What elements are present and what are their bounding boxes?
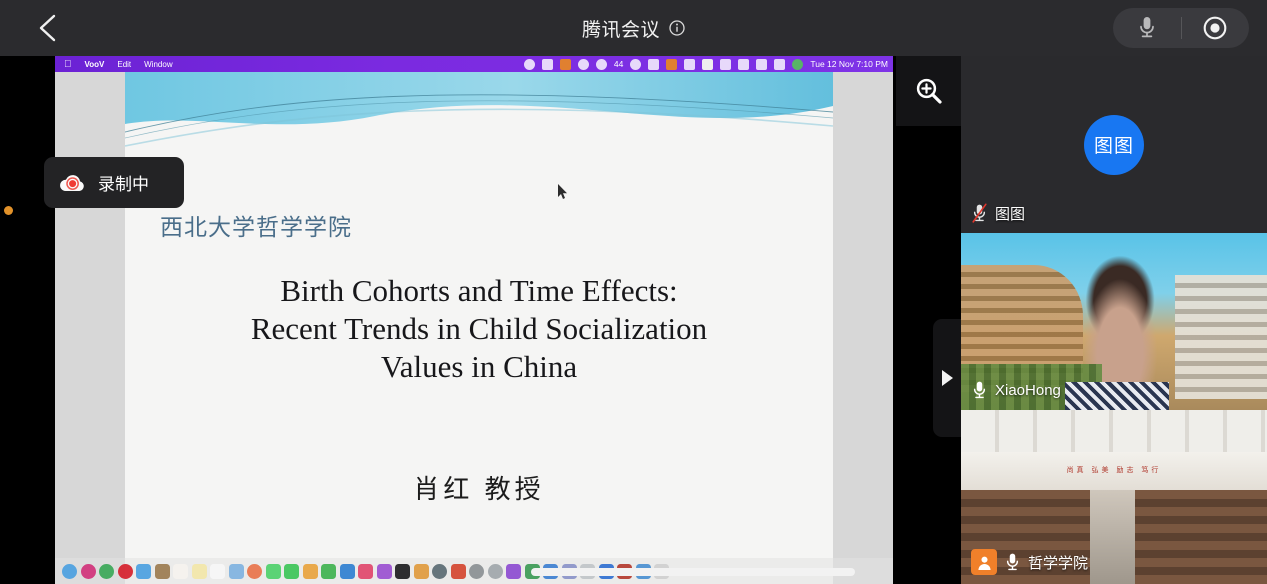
dropbox-icon[interactable] — [524, 59, 535, 70]
chrome-icon[interactable] — [99, 564, 114, 579]
menu-item-window[interactable]: Window — [144, 60, 172, 69]
zoom-in-button[interactable] — [896, 56, 961, 126]
mic-button[interactable] — [1113, 15, 1181, 41]
triangle-right-icon — [940, 369, 954, 387]
top-right-controls — [1113, 8, 1249, 48]
wechat-icon[interactable] — [469, 564, 484, 579]
launchpad-icon[interactable] — [81, 564, 96, 579]
horizontal-scrollbar[interactable] — [531, 568, 855, 576]
slide-presenter-name: 肖红 教授 — [141, 469, 817, 506]
microphone-muted-icon — [971, 203, 988, 224]
user-icon[interactable] — [792, 59, 803, 70]
maps-icon[interactable] — [229, 564, 244, 579]
mail-icon[interactable] — [136, 564, 151, 579]
recording-badge: 录制中 — [44, 157, 184, 208]
microphone-icon — [1137, 15, 1157, 41]
control-center-icon[interactable] — [774, 59, 785, 70]
top-bar: 腾讯会议 — [0, 0, 1267, 56]
folder-icon[interactable] — [155, 564, 170, 579]
panel-expand-handle[interactable] — [933, 319, 961, 437]
menubar-clock: Tue 12 Nov 7:10 PM — [810, 59, 888, 69]
podcasts-icon[interactable] — [377, 564, 392, 579]
opera-icon[interactable] — [118, 564, 133, 579]
presentation-slide: 西北大学哲学学院 Birth Cohorts and Time Effects:… — [125, 72, 833, 584]
mail2-icon[interactable] — [451, 564, 466, 579]
camera-record-icon — [1202, 15, 1228, 41]
books-icon[interactable] — [414, 564, 429, 579]
keynote-icon[interactable] — [340, 564, 355, 579]
microphone-icon — [971, 380, 988, 401]
avatar: 图图 — [1084, 115, 1144, 175]
binoculars-icon[interactable] — [648, 59, 659, 70]
apple-logo-icon:  — [64, 59, 72, 70]
word-icon[interactable] — [506, 564, 521, 579]
cloud-record-icon — [58, 171, 88, 195]
mouse-cursor-icon — [557, 184, 568, 200]
participant-name-bar: 图图 — [971, 203, 1025, 224]
keyboard-icon[interactable] — [560, 59, 571, 70]
meeting-window: 腾讯会议 — [0, 0, 1267, 584]
globe-icon[interactable] — [630, 59, 641, 70]
battery-icon[interactable] — [720, 59, 731, 70]
microphone-icon — [1004, 552, 1021, 573]
shield-icon[interactable] — [666, 59, 677, 70]
notes-icon[interactable] — [192, 564, 207, 579]
participant-name-bar: XiaoHong — [971, 380, 1061, 401]
numbers-icon[interactable] — [321, 564, 336, 579]
slide-title-line-2: Recent Trends in Child Socialization — [141, 310, 817, 348]
music-icon[interactable] — [358, 564, 373, 579]
menu-item-voov[interactable]: VooV — [85, 60, 105, 69]
facetime-icon[interactable] — [284, 564, 299, 579]
messages-icon[interactable] — [266, 564, 281, 579]
participant-name: 图图 — [995, 203, 1025, 224]
participant-rail: 图图 图图 — [961, 56, 1267, 584]
finder-icon[interactable] — [62, 564, 77, 579]
menu-item-edit[interactable]: Edit — [117, 60, 131, 69]
preview-icon[interactable] — [303, 564, 318, 579]
orange-status-dot — [4, 206, 13, 215]
wifi-icon[interactable] — [738, 59, 749, 70]
shared-screen-stage[interactable]:  VooV Edit Window 44 — [0, 56, 961, 584]
info-circle-icon[interactable] — [669, 20, 685, 36]
text-input-icon[interactable] — [702, 59, 713, 70]
qq-icon[interactable] — [488, 564, 503, 579]
shared-desktop:  VooV Edit Window 44 — [55, 56, 893, 584]
mac-menu-bar:  VooV Edit Window 44 — [55, 56, 893, 72]
participant-tile[interactable]: XiaoHong — [961, 233, 1267, 410]
tv-icon[interactable] — [395, 564, 410, 579]
recording-label: 录制中 — [98, 170, 149, 195]
participant-name: XiaoHong — [995, 382, 1061, 399]
camera-record-button[interactable] — [1182, 15, 1250, 41]
participant-tile[interactable]: 图图 图图 — [961, 56, 1267, 233]
user-avatar-icon — [971, 549, 997, 575]
printer-icon[interactable] — [542, 59, 553, 70]
display-icon[interactable] — [684, 59, 695, 70]
slide-school-name: 西北大学哲学学院 — [160, 208, 352, 242]
mac-dock[interactable] — [55, 558, 893, 584]
participant-name-bar: 哲学学院 — [971, 549, 1088, 575]
search-icon[interactable] — [756, 59, 767, 70]
wechat-badge: 44 — [614, 59, 623, 69]
slide-wave-decoration — [125, 72, 833, 158]
wechat-icon[interactable] — [596, 59, 607, 70]
slide-title-line-3: Values in China — [141, 348, 817, 386]
calendar-icon[interactable] — [173, 564, 188, 579]
participant-name: 哲学学院 — [1028, 552, 1088, 573]
room-banner: 尚真 弘美 励志 笃行 — [1047, 462, 1182, 478]
meeting-title-wrap: 腾讯会议 — [0, 0, 1267, 56]
appstore-icon[interactable] — [432, 564, 447, 579]
slide-title-line-1: Birth Cohorts and Time Effects: — [141, 272, 817, 310]
slide-title: Birth Cohorts and Time Effects: Recent T… — [141, 272, 817, 385]
meeting-title: 腾讯会议 — [582, 15, 660, 42]
reminders-icon[interactable] — [210, 564, 225, 579]
magnifier-plus-icon — [913, 75, 945, 107]
at-icon[interactable] — [578, 59, 589, 70]
participant-tile[interactable]: 尚真 弘美 励志 笃行 哲学学院 — [961, 410, 1267, 584]
photos-icon[interactable] — [247, 564, 262, 579]
